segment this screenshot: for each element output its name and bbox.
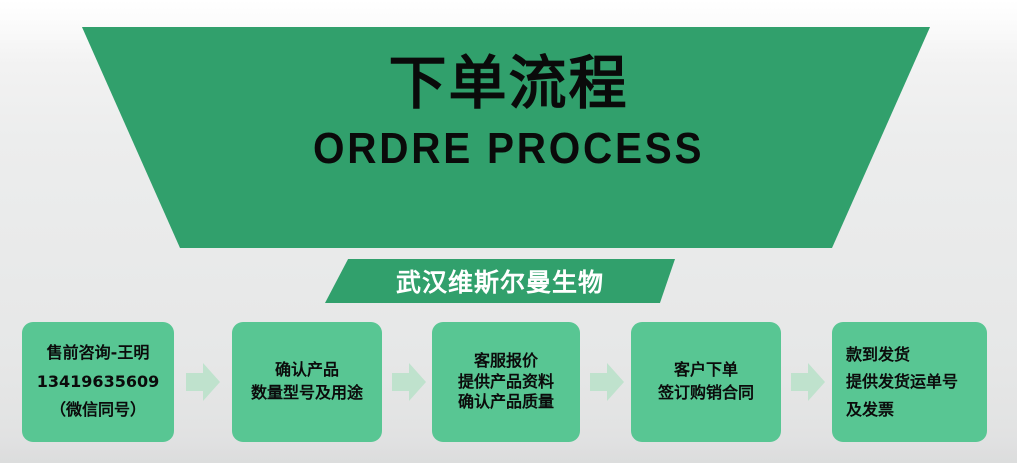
flow-step-line: 确认产品	[275, 359, 339, 382]
flow-step-line: （微信同号）	[50, 396, 146, 424]
flow-step-confirm-product[interactable]: 确认产品 数量型号及用途	[232, 322, 382, 442]
flow-step-line: 提供发货运单号	[846, 368, 958, 396]
arrow-right-icon	[186, 360, 220, 404]
flow-step-line: 确认产品质量	[458, 392, 554, 413]
arrow-right-icon	[590, 360, 624, 404]
flow-step-line: 款到发货	[846, 341, 910, 369]
arrow-right-icon	[791, 360, 825, 404]
flow-step-line: 数量型号及用途	[251, 382, 363, 405]
bottom-gradient-divider	[0, 445, 1017, 463]
flow-step-line: 售前咨询-王明	[47, 339, 150, 367]
flow-step-line: 及发票	[846, 396, 894, 424]
subtitle-parallelogram-banner	[325, 259, 675, 303]
flow-step-line: 13419635609	[37, 368, 159, 396]
flow-step-line: 提供产品资料	[458, 372, 554, 393]
flow-step-pre-sales-contact[interactable]: 售前咨询-王明 13419635609 （微信同号）	[22, 322, 174, 442]
header-trapezoid-banner	[0, 27, 1017, 248]
flow-step-line: 签订购销合同	[658, 382, 754, 405]
flow-step-line: 客户下单	[674, 359, 738, 382]
flow-step-place-order[interactable]: 客户下单 签订购销合同	[631, 322, 781, 442]
process-flow-row: 售前咨询-王明 13419635609 （微信同号） 确认产品 数量型号及用途 …	[0, 322, 1017, 442]
flow-step-service-quote[interactable]: 客服报价 提供产品资料 确认产品质量	[432, 322, 580, 442]
order-process-poster: 下单流程 ORDRE PROCESS 武汉维斯尔曼生物 售前咨询-王明 1341…	[0, 0, 1017, 463]
flow-step-line: 客服报价	[474, 351, 538, 372]
flow-step-payment-shipping[interactable]: 款到发货 提供发货运单号 及发票	[832, 322, 987, 442]
arrow-right-icon	[392, 360, 426, 404]
